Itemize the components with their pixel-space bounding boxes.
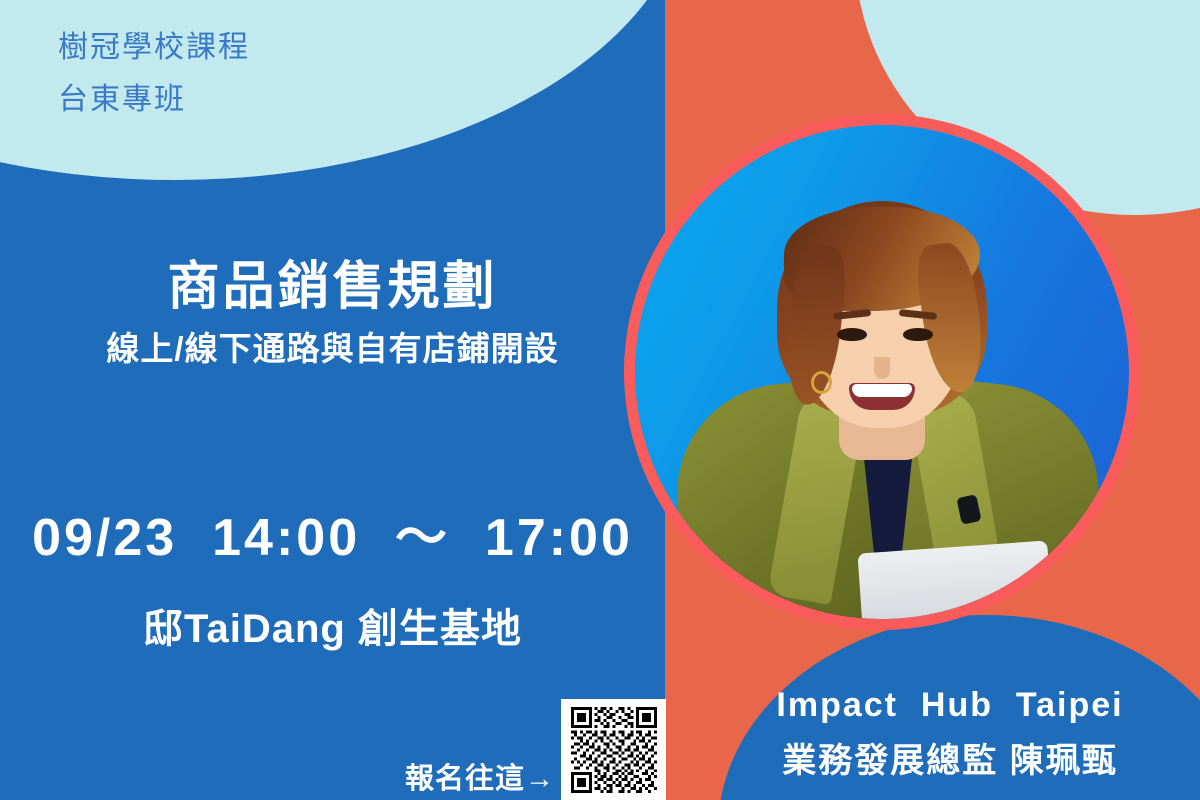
event-poster: 樹冠學校課程 台東專班 商品銷售規劃 線上/線下通路與自有店鋪開設 09/23 … [0, 0, 1200, 800]
eye-right [903, 328, 933, 341]
event-datetime: 09/23 14:00 ～ 17:00 [0, 495, 665, 570]
laptop [857, 540, 1052, 619]
event-info-block: 09/23 14:00 ～ 17:00 邸TaiDang 創生基地 [0, 495, 665, 654]
registration-qr-container[interactable] [561, 699, 666, 800]
speaker-name: 業務發展總監 陳珮甄 [700, 733, 1200, 782]
page-subtitle: 線上/線下通路與自有店鋪開設 [0, 328, 665, 371]
event-venue: 邸TaiDang 創生基地 [0, 596, 665, 654]
nose [874, 357, 890, 379]
register-cta-label: 報名往這→ [400, 755, 555, 797]
title-block: 商品銷售規劃 線上/線下通路與自有店鋪開設 [0, 258, 665, 371]
teeth [852, 384, 912, 397]
speaker-portrait-ring [624, 114, 1140, 630]
eye-left [837, 328, 867, 341]
program-eyebrow: 樹冠學校課程 台東專班 [58, 22, 250, 125]
portrait-person-illustration [635, 125, 1129, 619]
earring [811, 371, 832, 394]
qr-code-icon[interactable] [571, 707, 657, 793]
speaker-block: Impact Hub Taipei 業務發展總監 陳珮甄 [700, 686, 1200, 782]
speaker-portrait [635, 125, 1129, 619]
mouth [849, 383, 915, 410]
page-title: 商品銷售規劃 [0, 258, 665, 316]
speaker-organization: Impact Hub Taipei [700, 686, 1200, 725]
